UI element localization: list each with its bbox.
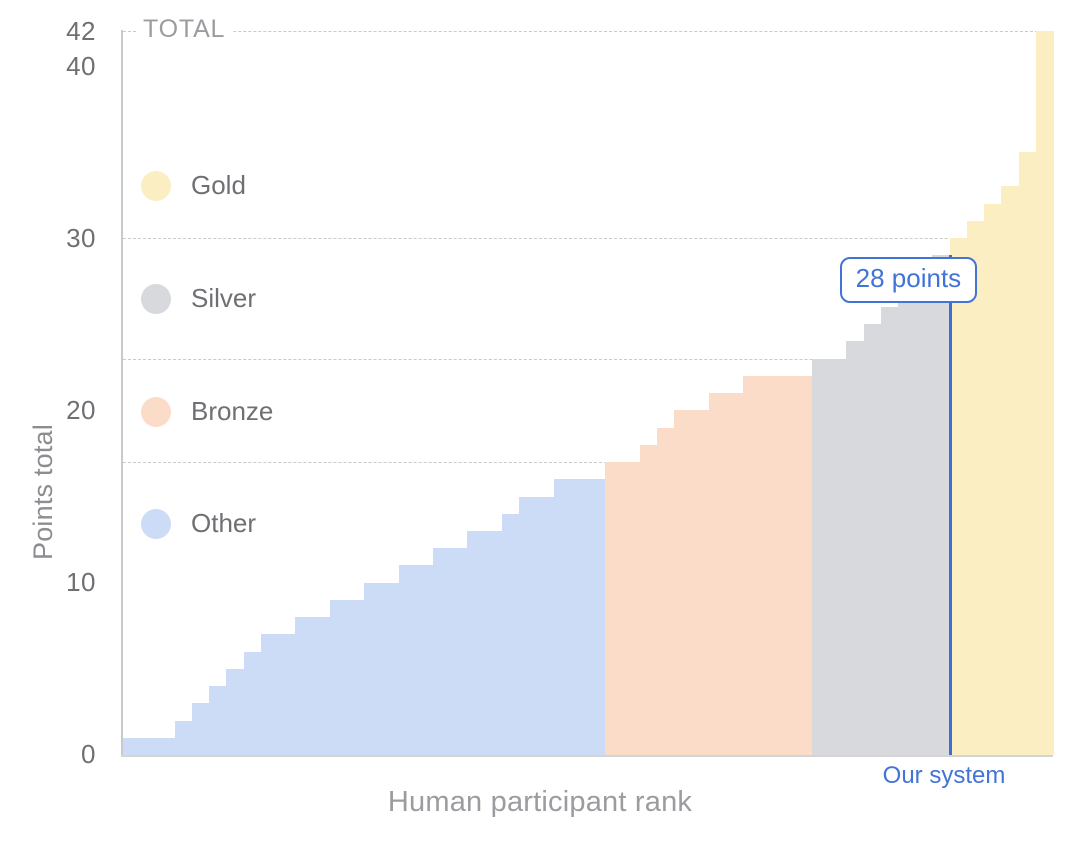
- bar-gold: [1036, 31, 1054, 755]
- legend-label-silver: Silver: [191, 283, 256, 314]
- y-tick-20: 20: [34, 397, 96, 423]
- plot-area: TOTAL 28 points Gold Silver Bronze: [123, 0, 1053, 843]
- y-axis-ticks: 42 40 30 20 10 0: [0, 0, 96, 843]
- band-gold: [123, 0, 1053, 757]
- points-callout-badge: 28 points: [840, 257, 978, 302]
- gold-swatch-icon: [141, 171, 171, 201]
- bar-gold: [950, 238, 968, 755]
- our-system-marker-line: [949, 255, 952, 755]
- points-total-step-chart: Points total 42 40 30 20 10 0 TOTAL 28 p…: [0, 0, 1080, 843]
- other-swatch-icon: [141, 509, 171, 539]
- legend-item-gold[interactable]: Gold: [141, 170, 246, 201]
- silver-swatch-icon: [141, 284, 171, 314]
- y-tick-40: 40: [34, 53, 96, 79]
- legend-label-bronze: Bronze: [191, 396, 273, 427]
- legend-item-silver[interactable]: Silver: [141, 283, 256, 314]
- y-tick-0: 0: [34, 741, 96, 767]
- bar-gold: [984, 204, 1002, 755]
- legend-label-gold: Gold: [191, 170, 246, 201]
- legend-item-bronze[interactable]: Bronze: [141, 396, 273, 427]
- bar-gold: [1019, 152, 1037, 755]
- y-tick-42: 42: [34, 18, 96, 44]
- bronze-swatch-icon: [141, 397, 171, 427]
- legend-label-other: Other: [191, 508, 256, 539]
- bars-container: [123, 0, 1053, 757]
- x-axis-baseline: [121, 755, 1053, 757]
- x-axis-title: Human participant rank: [0, 786, 1080, 819]
- legend-item-other[interactable]: Other: [141, 508, 256, 539]
- y-tick-30: 30: [34, 225, 96, 251]
- y-tick-10: 10: [34, 569, 96, 595]
- bar-gold: [1001, 186, 1019, 755]
